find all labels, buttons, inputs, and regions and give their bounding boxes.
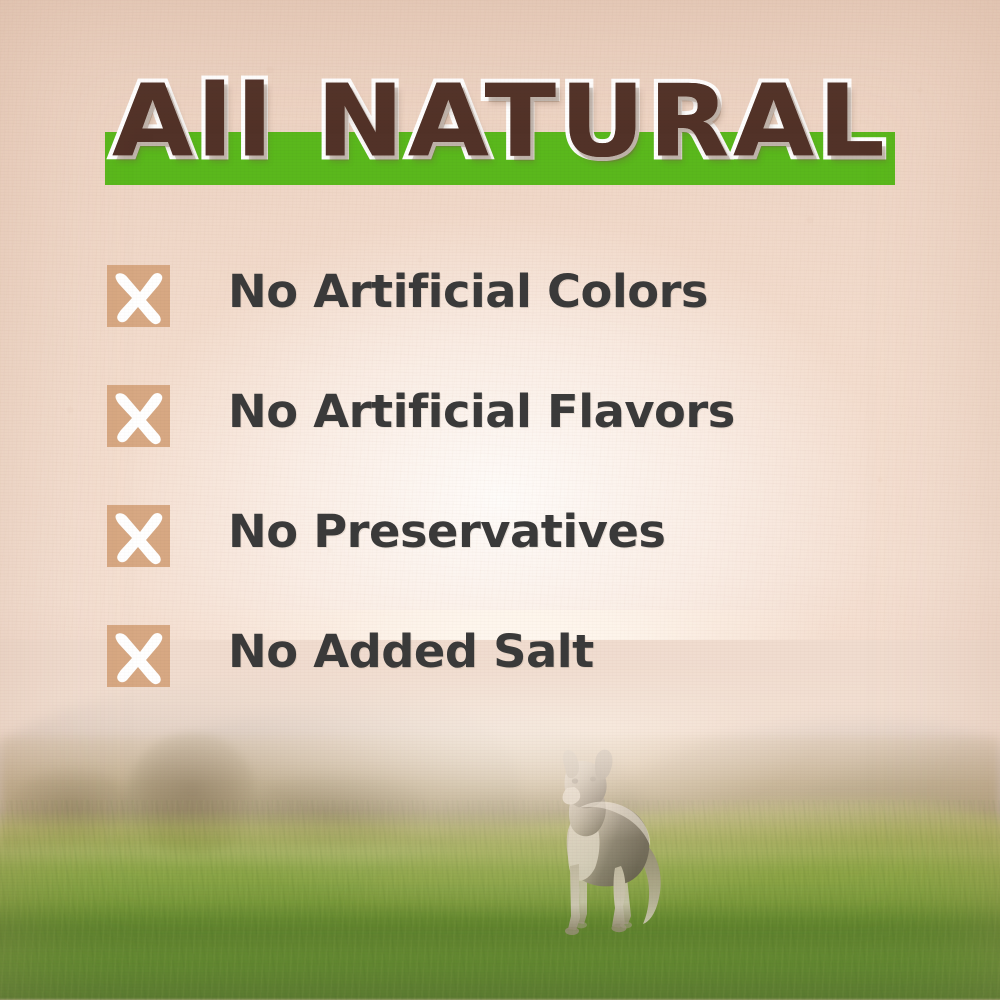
border-collie-dog — [527, 748, 677, 948]
all-natural-feature-panel: All NATURAL All NATURAL No Artificial Co… — [0, 0, 1000, 1000]
x-mark-icon — [107, 265, 170, 327]
list-item: No Added Salt — [107, 625, 907, 745]
list-item: No Artificial Colors — [107, 265, 907, 385]
headline-outline: All NATURAL — [0, 72, 1000, 172]
x-mark-icon — [107, 625, 170, 687]
list-item-label: No Added Salt — [228, 621, 594, 683]
x-mark-icon — [107, 385, 170, 447]
benefits-list: No Artificial Colors No Artificial Flavo… — [107, 265, 907, 745]
list-item-label: No Artificial Colors — [228, 261, 708, 323]
list-item: No Artificial Flavors — [107, 385, 907, 505]
list-item-label: No Artificial Flavors — [228, 381, 735, 443]
list-item: No Preservatives — [107, 505, 907, 625]
list-item-label: No Preservatives — [228, 501, 665, 563]
headline-text-stroke: All NATURAL — [112, 72, 888, 172]
grass-blade-texture — [0, 800, 1000, 1000]
x-mark-icon — [107, 505, 170, 567]
